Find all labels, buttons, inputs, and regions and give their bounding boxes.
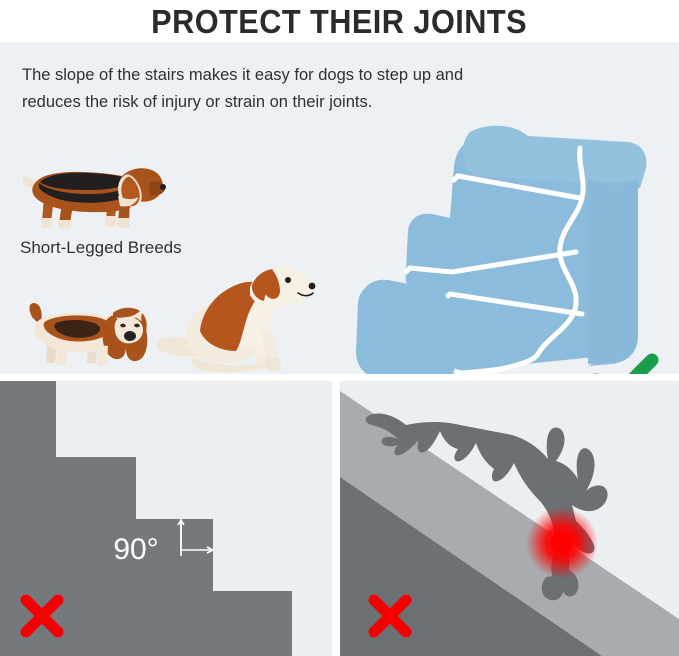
header: PROTECT THEIR JOINTS xyxy=(0,0,679,42)
angle-label: 90° xyxy=(113,533,158,566)
infographic-page: PROTECT THEIR JOINTS The slope of the st… xyxy=(0,0,679,656)
pet-stairs-icon xyxy=(330,122,660,374)
top-feature-panel: The slope of the stairs makes it easy fo… xyxy=(0,42,679,374)
red-x-icon xyxy=(18,592,66,640)
lead-line-2: reduces the risk of injury or strain on … xyxy=(22,89,522,116)
green-check-icon xyxy=(588,352,660,374)
sitting-dog-icon xyxy=(152,257,316,374)
lead-line-1: The slope of the stairs makes it easy fo… xyxy=(22,66,463,84)
basset-hound-dog-icon xyxy=(14,287,154,369)
page-title: PROTECT THEIR JOINTS xyxy=(152,5,528,38)
lead-paragraph: The slope of the stairs makes it easy fo… xyxy=(22,62,522,116)
red-x-icon xyxy=(366,592,414,640)
dog-caption-short-legged: Short-Legged Breeds xyxy=(20,238,182,258)
dachshund-dog-icon xyxy=(18,152,166,230)
